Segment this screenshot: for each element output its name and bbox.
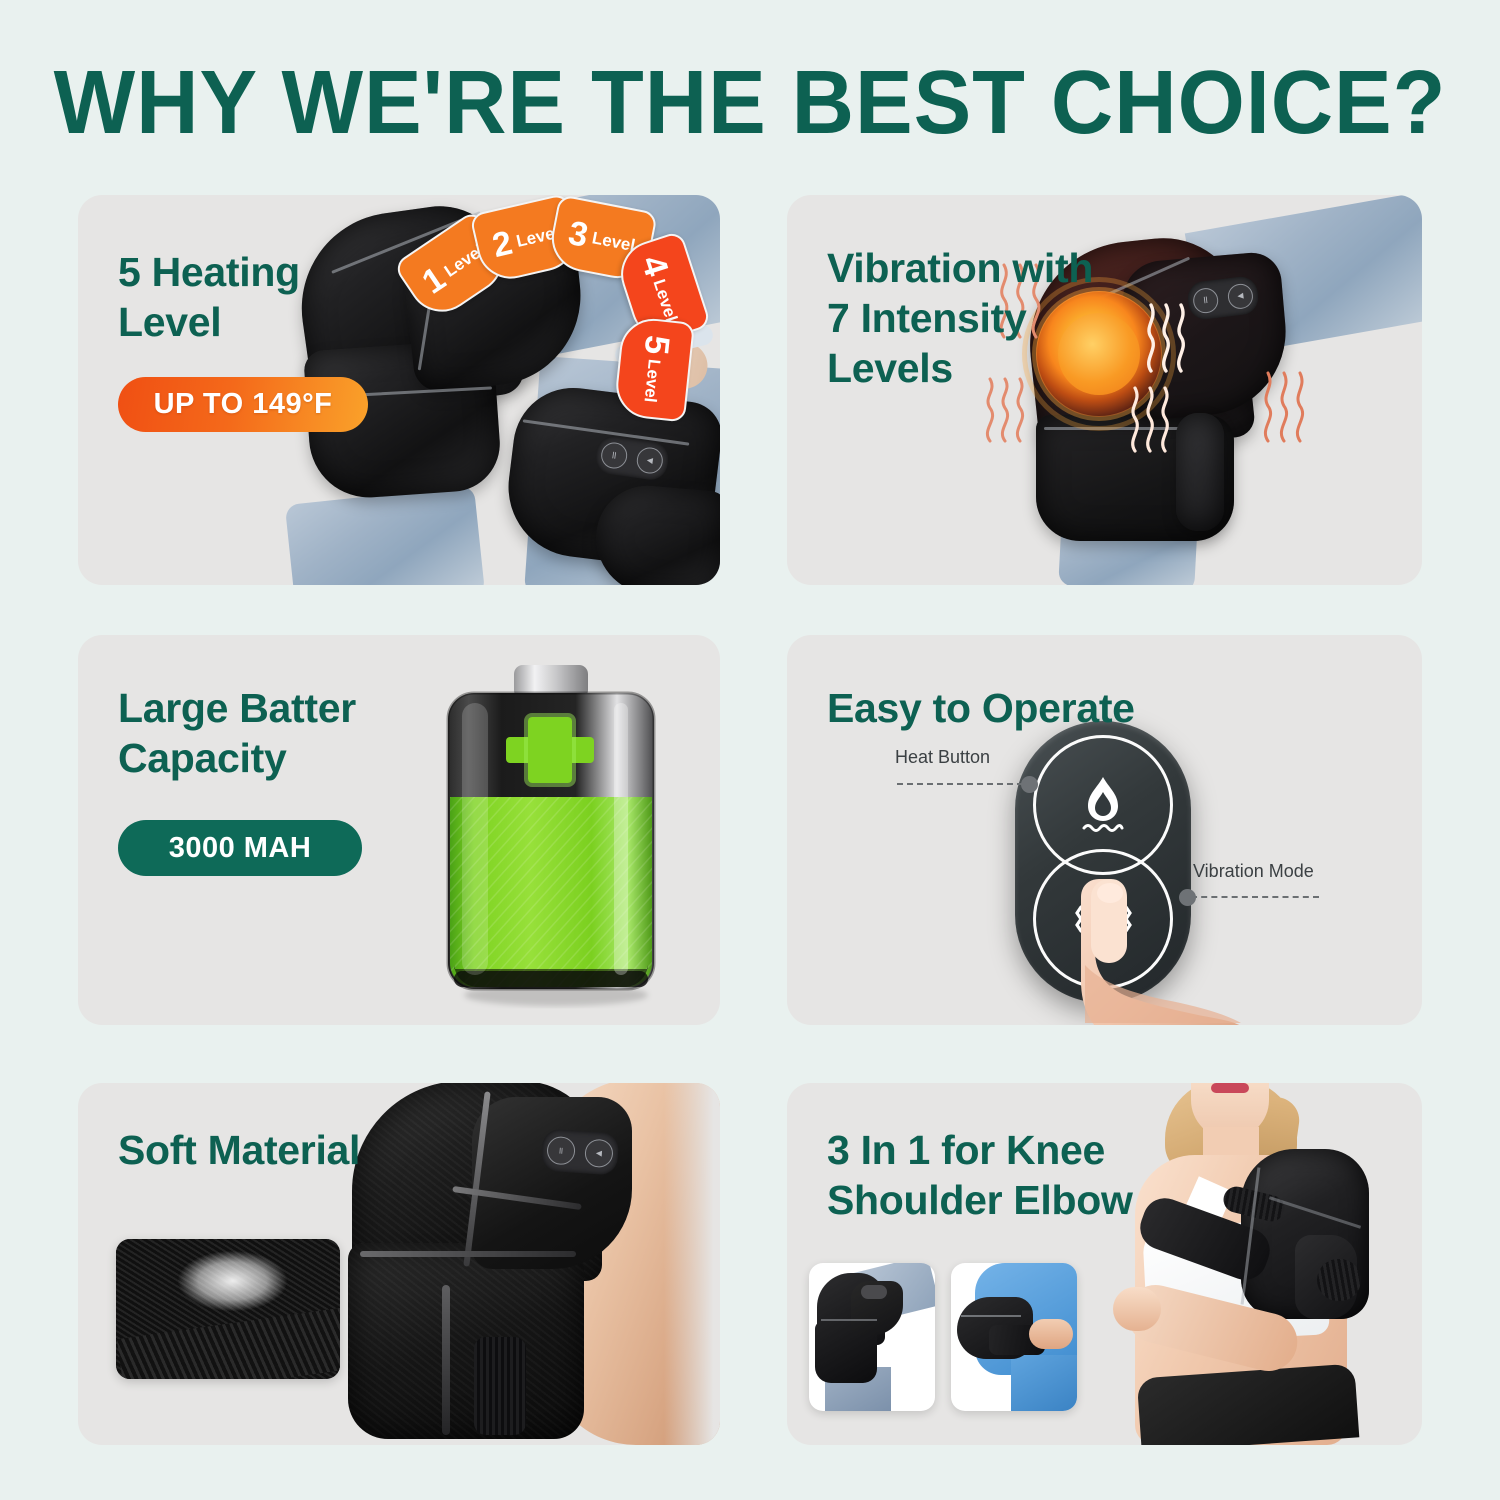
status-badge-capacity: 3000 MAH — [118, 820, 362, 876]
card-easy-to-operate: Easy to Operate — [787, 635, 1422, 1025]
heat-level-number: 5 — [639, 334, 675, 356]
soft-brace-photo: ll ◄ — [346, 1083, 720, 1445]
heat-level-label: Level — [651, 277, 681, 324]
card-title: Easy to Operate — [827, 683, 1135, 733]
vibration-wave-icon — [1142, 299, 1190, 377]
card-title: Large Batter Capacity — [118, 683, 356, 783]
heat-level-number: 2 — [489, 226, 515, 263]
thumbnail-elbow — [951, 1263, 1077, 1411]
fabric-closeup-inset — [116, 1239, 340, 1379]
heating-level-fan: 1 Level 2 Level 3 Level 4 Level 5 Level — [396, 195, 720, 425]
card-heating-level: ll ◄ ll ◄ 1 Level 2 Level 3 — [78, 195, 720, 585]
heat-button-callout-label: Heat Button — [895, 747, 990, 768]
card-title: 3 In 1 for Knee Shoulder Elbow — [827, 1125, 1133, 1225]
heat-level-label: Level — [642, 358, 663, 403]
heat-level-badge-5: 5 Level — [613, 316, 695, 423]
card-title: 5 Heating Level — [118, 247, 300, 347]
status-badge-temperature: UP TO 149°F — [118, 377, 368, 432]
card-battery-capacity: Large Batter Capacity 3000 MAH — [78, 635, 720, 1025]
vibration-wave-icon — [1258, 367, 1310, 447]
card-title: Vibration with 7 Intensity Levels — [827, 243, 1093, 393]
card-soft-material: ll ◄ Soft Material — [78, 1083, 720, 1445]
heat-level-number: 3 — [566, 216, 591, 253]
card-three-in-one: 3 In 1 for Knee Shoulder Elbow — [787, 1083, 1422, 1445]
card-vibration-intensity: ll ◄ — [787, 195, 1422, 585]
battery-graphic — [428, 659, 678, 1009]
card-title: Soft Material — [118, 1125, 360, 1175]
flame-icon — [1074, 774, 1132, 836]
heat-button-marker — [1021, 776, 1038, 793]
vibration-wave-icon — [1126, 383, 1174, 457]
page-title: WHY WE'RE THE BEST CHOICE? — [30, 52, 1470, 155]
brace-control-buttons: ll ◄ — [541, 1128, 620, 1175]
thumbnail-knee — [809, 1263, 935, 1411]
heat-button-callout-line — [897, 783, 1023, 785]
feature-card-grid: ll ◄ ll ◄ 1 Level 2 Level 3 — [78, 195, 1422, 1445]
heat-level-number: 4 — [635, 252, 673, 281]
woman-shoulder-brace-photo — [1099, 1083, 1422, 1445]
pointing-finger — [1077, 873, 1247, 1025]
